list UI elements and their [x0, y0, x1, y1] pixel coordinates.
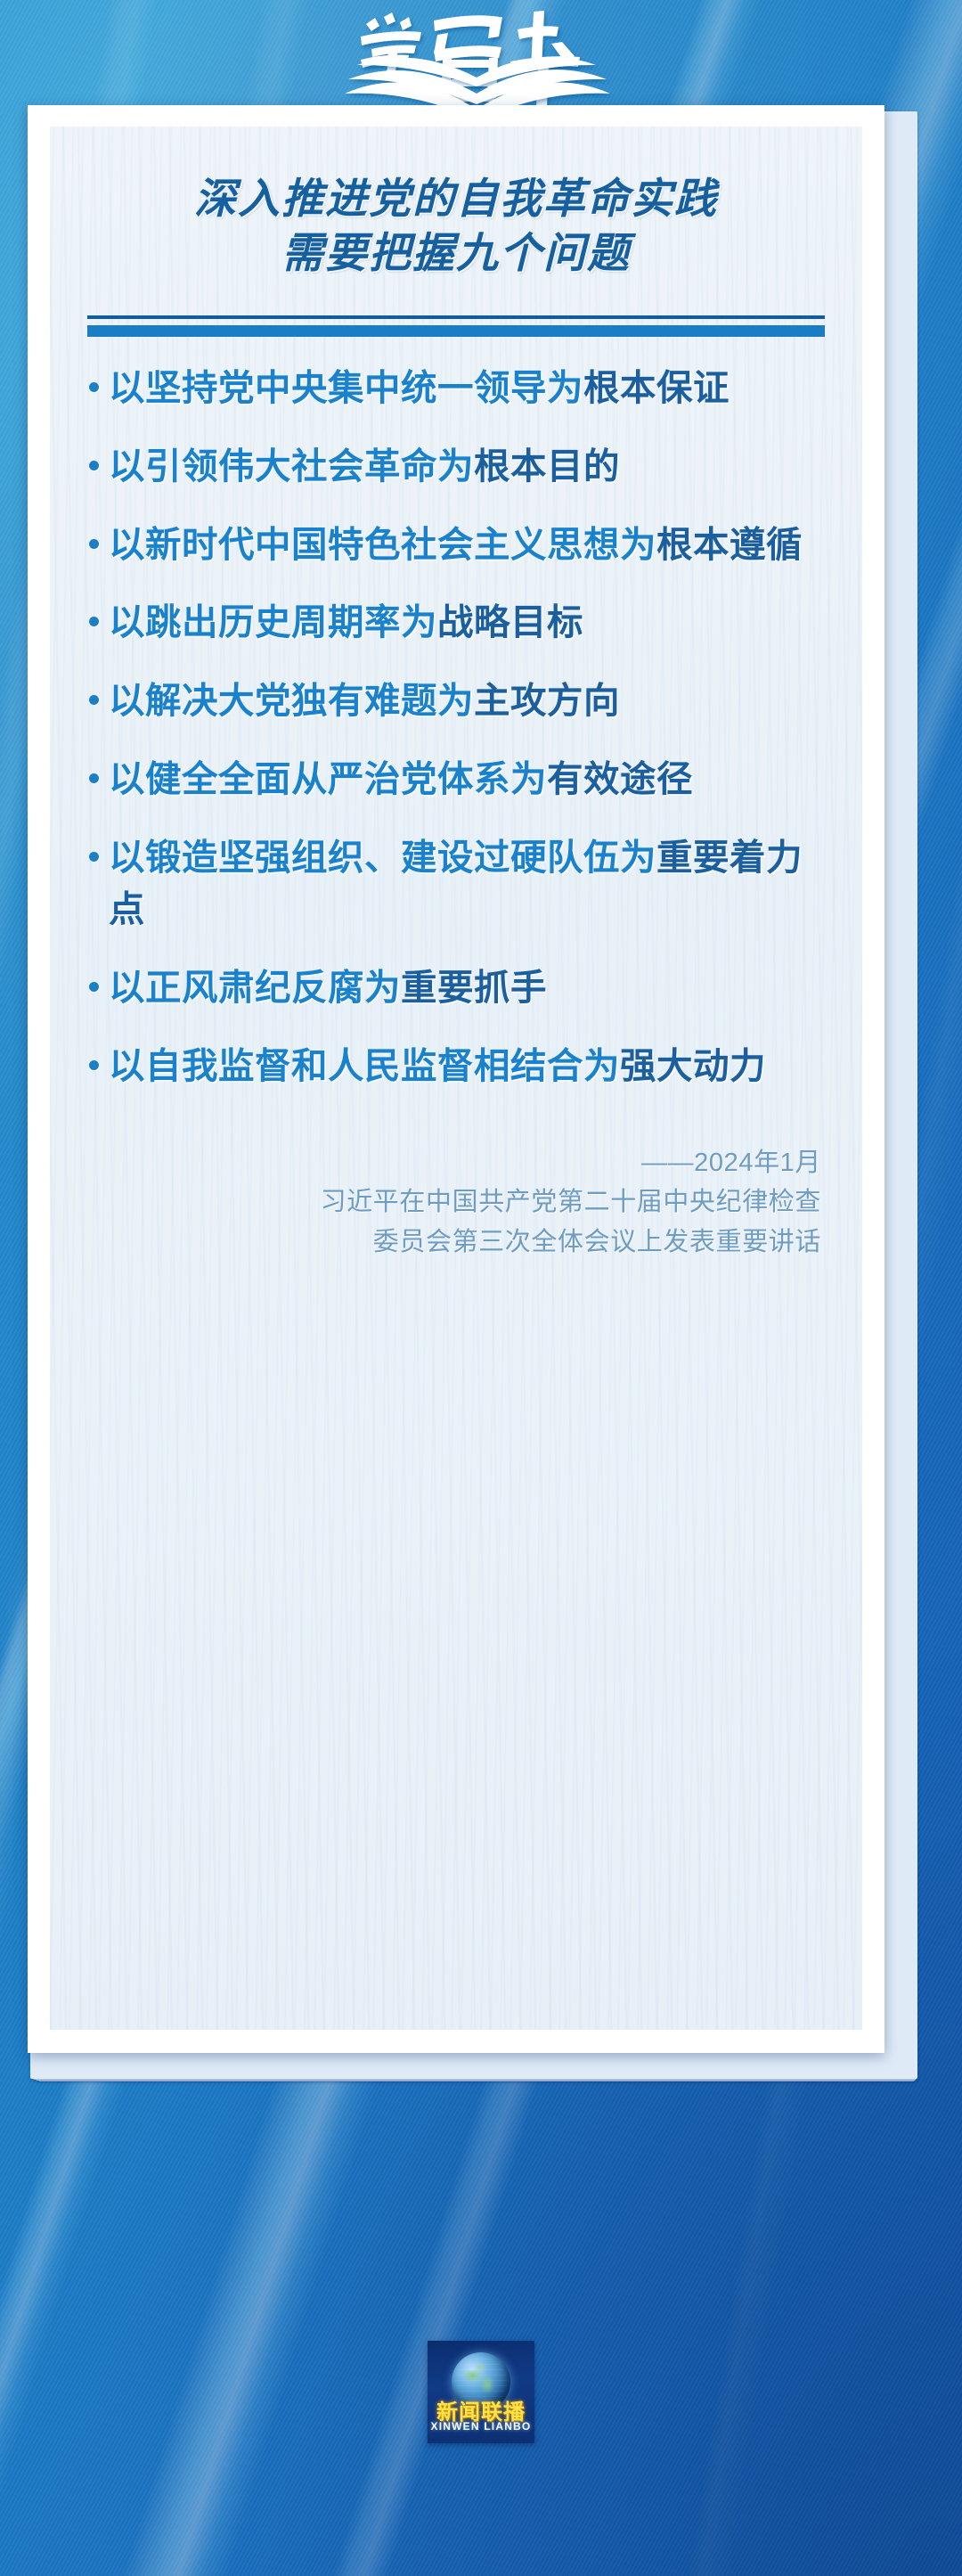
list-item-emphasis: 根本目的 — [474, 446, 620, 487]
list-item-text: 以锻造坚强组织、建设过硬队伍为重要着力点 — [109, 831, 823, 936]
page-title-line-2: 需要把握九个问题 — [82, 227, 830, 282]
list-item: 以自我监督和人民监督相结合为强大动力 — [89, 1040, 823, 1092]
list-item-text: 以解决大党独有难题为主攻方向 — [109, 675, 823, 727]
list-item: 以跳出历史周期率为战略目标 — [89, 596, 823, 649]
bullet-dot-icon — [89, 982, 99, 992]
list-item-text: 以健全全面从严治党体系为有效途径 — [109, 753, 823, 806]
page-title-line-1: 深入推进党的自我革命实践 — [82, 173, 830, 227]
list-item-lead: 以跳出历史周期率为 — [109, 601, 437, 642]
bullet-dot-icon — [89, 695, 99, 705]
bullet-list: 以坚持党中央集中统一领导为根本保证 以引领伟大社会革命为根本目的 以新时代中国特… — [89, 362, 823, 1092]
list-item-text: 以跳出历史周期率为战略目标 — [109, 596, 823, 649]
divider-gap — [87, 319, 825, 325]
list-item-lead: 以引领伟大社会革命为 — [109, 446, 474, 487]
list-item: 以新时代中国特色社会主义思想为根本遵循 — [89, 519, 823, 571]
list-item-lead: 以坚持党中央集中统一领导为 — [109, 367, 583, 408]
list-item-emphasis: 根本遵循 — [656, 524, 803, 565]
footer-logo-en-text: XINWEN LIANBO — [428, 2420, 534, 2433]
bullet-dot-icon — [89, 1060, 99, 1070]
brand-logo — [0, 4, 962, 119]
attribution-source-1: 习近平在中国共产党第二十届中央纪律检查 — [91, 1182, 821, 1222]
list-item-text: 以引领伟大社会革命为根本目的 — [109, 440, 823, 493]
list-item-emphasis: 强大动力 — [620, 1045, 766, 1086]
page-title: 深入推进党的自我革命实践 需要把握九个问题 — [82, 173, 830, 282]
list-item-emphasis: 主攻方向 — [474, 680, 620, 721]
bullet-dot-icon — [89, 382, 99, 392]
list-item-emphasis: 战略目标 — [437, 601, 583, 642]
list-item-lead: 以健全全面从严治党体系为 — [109, 758, 547, 799]
open-book-icon — [334, 4, 628, 119]
list-item-lead: 以新时代中国特色社会主义思想为 — [109, 524, 656, 565]
list-item: 以坚持党中央集中统一领导为根本保证 — [89, 362, 823, 414]
list-item-emphasis: 重要抓手 — [401, 967, 547, 1008]
list-item-text: 以新时代中国特色社会主义思想为根本遵循 — [109, 519, 823, 571]
list-item-text: 以坚持党中央集中统一领导为根本保证 — [109, 362, 823, 414]
card-front: 深入推进党的自我革命实践 需要把握九个问题 以坚持党中央集中统一领导为根本保证 … — [28, 105, 885, 2053]
list-item-lead: 以正风肃纪反腐为 — [109, 967, 401, 1008]
bullet-dot-icon — [89, 773, 99, 783]
list-item: 以健全全面从严治党体系为有效途径 — [89, 753, 823, 806]
bullet-dot-icon — [89, 617, 99, 626]
list-item-emphasis: 有效途径 — [547, 758, 693, 799]
list-item: 以引领伟大社会革命为根本目的 — [89, 440, 823, 493]
list-item-lead: 以锻造坚强组织、建设过硬队伍为 — [109, 837, 656, 878]
list-item-emphasis: 根本保证 — [583, 367, 730, 408]
list-item-lead: 以自我监督和人民监督相结合为 — [109, 1045, 620, 1086]
list-item-lead: 以解决大党独有难题为 — [109, 680, 474, 721]
list-item: 以锻造坚强组织、建设过硬队伍为重要着力点 — [89, 831, 823, 936]
study-card: 深入推进党的自我革命实践 需要把握九个问题 以坚持党中央集中统一领导为根本保证 … — [28, 105, 918, 2078]
attribution-source-2: 委员会第三次全体会议上发表重要讲话 — [91, 1223, 821, 1262]
attribution-date: ——2024年1月 — [91, 1143, 821, 1182]
list-item-text: 以自我监督和人民监督相结合为强大动力 — [109, 1040, 823, 1092]
bullet-dot-icon — [89, 852, 99, 862]
bullet-dot-icon — [89, 461, 99, 470]
list-item: 以正风肃纪反腐为重要抓手 — [89, 961, 823, 1014]
list-item-text: 以正风肃纪反腐为重要抓手 — [109, 961, 823, 1014]
list-item: 以解决大党独有难题为主攻方向 — [89, 675, 823, 727]
attribution-block: ——2024年1月 习近平在中国共产党第二十届中央纪律检查 委员会第三次全体会议… — [91, 1143, 821, 1261]
footer-channel-logo: 新闻联播 XINWEN LIANBO — [428, 2341, 534, 2443]
divider-thick-rule — [87, 325, 825, 337]
bullet-dot-icon — [89, 539, 99, 549]
card-paper-panel: 深入推进党的自我革命实践 需要把握九个问题 以坚持党中央集中统一领导为根本保证 … — [50, 127, 862, 2030]
title-divider — [87, 315, 825, 337]
